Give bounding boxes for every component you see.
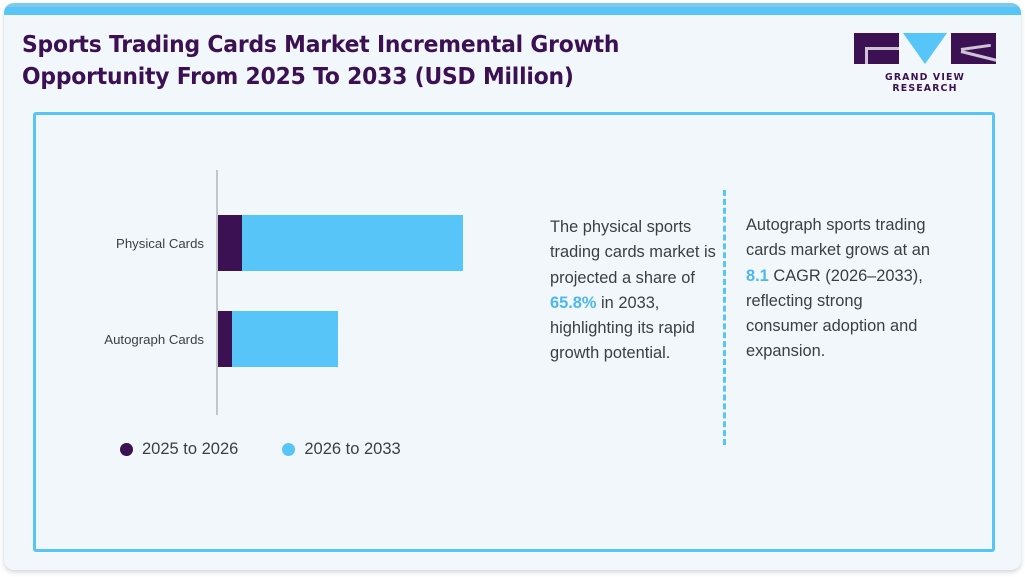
insight-text-before: Autograph sports trading cards market gr…	[746, 216, 930, 259]
header: Sports Trading Cards Market Incremental …	[4, 15, 1021, 107]
legend-label: 2026 to 2033	[304, 440, 400, 459]
bar-row: Autograph Cards	[36, 311, 536, 367]
content-panel: Physical Cards Autograph Cards	[33, 112, 995, 552]
infographic-card: Sports Trading Cards Market Incremental …	[4, 3, 1021, 570]
top-accent-bar	[4, 7, 1021, 15]
logo-g-icon	[854, 33, 899, 64]
stacked-bar-chart: Physical Cards Autograph Cards	[36, 115, 536, 555]
bar-label-autograph-cards: Autograph Cards	[4, 332, 204, 347]
bar-segment-2026-2033	[242, 215, 463, 271]
chart-legend: 2025 to 2026 2026 to 2033	[120, 440, 401, 459]
bar-autograph-cards	[218, 311, 338, 367]
bar-segment-2025-2026	[218, 311, 232, 367]
bar-segment-2026-2033	[232, 311, 338, 367]
bar-row: Physical Cards	[36, 215, 536, 271]
insight-physical-cards: The physical sports trading cards market…	[550, 215, 718, 367]
insight-highlight-cagr: 8.1	[746, 267, 769, 285]
insight-text-after: CAGR (2026–2033), reflecting strong cons…	[746, 267, 923, 361]
logo-marks	[851, 33, 999, 65]
logo-r-icon	[951, 33, 996, 64]
legend-item-2025-2026: 2025 to 2026	[120, 440, 238, 459]
infographic-root: Sports Trading Cards Market Incremental …	[0, 0, 1025, 577]
legend-item-2026-2033: 2026 to 2033	[282, 440, 400, 459]
brand-logo: GRAND VIEW RESEARCH	[851, 33, 999, 94]
chart-axis-line	[216, 170, 218, 415]
legend-swatch-icon	[120, 443, 133, 456]
insight-autograph-cards: Autograph sports trading cards market gr…	[746, 213, 936, 365]
logo-wordmark: GRAND VIEW RESEARCH	[851, 72, 999, 94]
page-title: Sports Trading Cards Market Incremental …	[22, 28, 757, 92]
logo-v-triangle-icon	[903, 33, 947, 64]
legend-swatch-icon	[282, 443, 295, 456]
bar-physical-cards	[218, 215, 463, 271]
insight-divider	[723, 190, 726, 445]
bar-label-physical-cards: Physical Cards	[4, 236, 204, 251]
bar-segment-2025-2026	[218, 215, 242, 271]
insight-highlight-share: 65.8%	[550, 294, 596, 312]
insight-text-before: The physical sports trading cards market…	[550, 218, 716, 287]
legend-label: 2025 to 2026	[142, 440, 238, 459]
